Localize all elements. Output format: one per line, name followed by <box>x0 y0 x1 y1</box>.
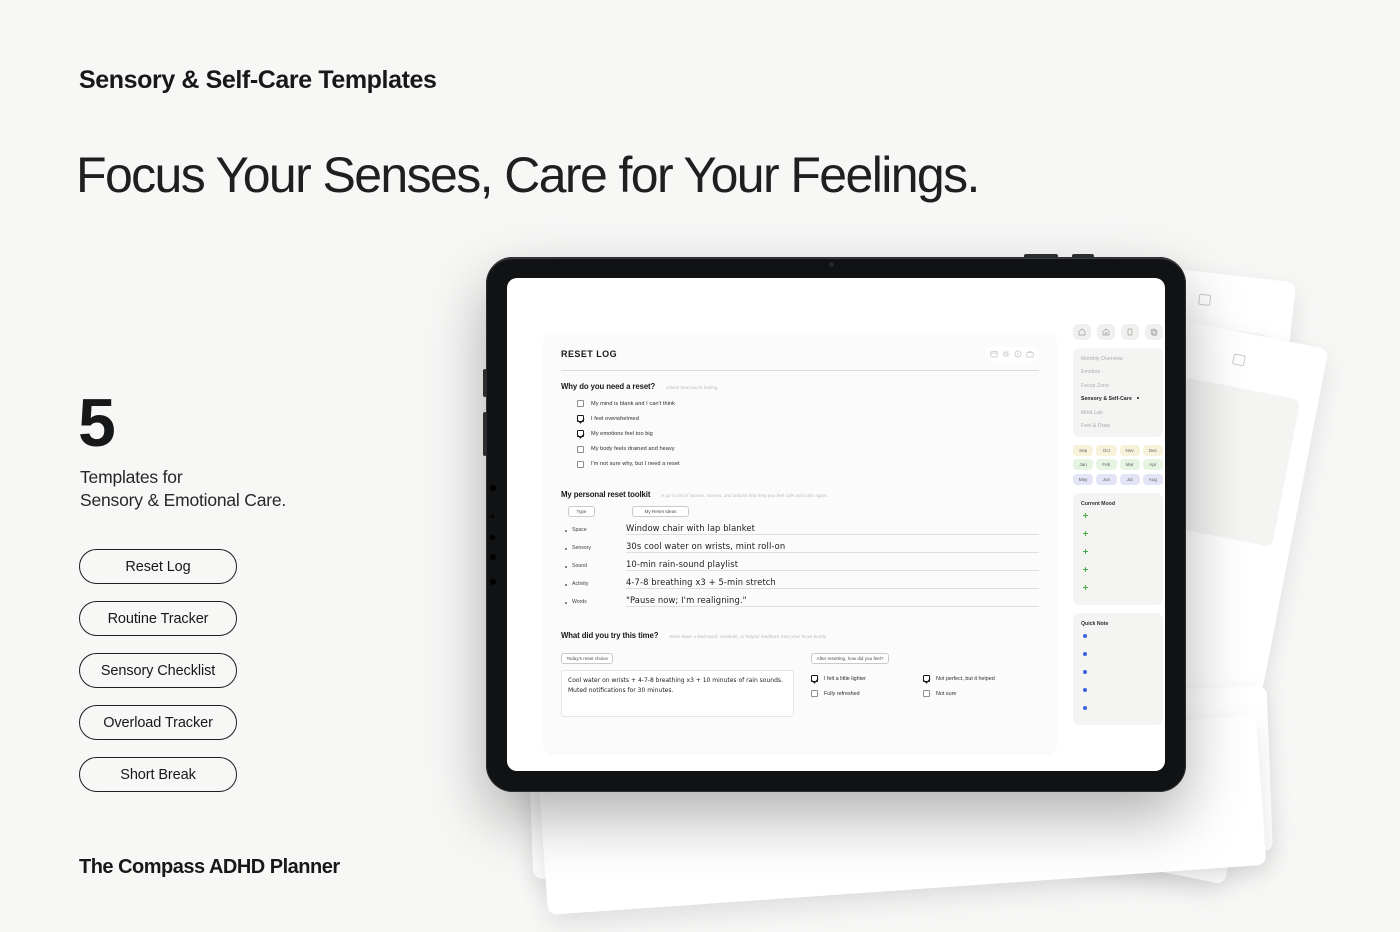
note-label: Today's reset choice <box>561 653 613 664</box>
section-toolkit-header: My personal reset toolkit A go-to list o… <box>561 490 1039 499</box>
toolkit-row: Words "Pause now; I'm realigning." <box>561 595 1039 608</box>
note-entry-row[interactable] <box>1081 651 1155 669</box>
pill-routine-tracker[interactable]: Routine Tracker <box>79 601 237 636</box>
page-icon[interactable] <box>1121 324 1139 340</box>
current-mood-card: Current Mood <box>1073 493 1163 605</box>
month-chip-feb[interactable]: Feb <box>1096 459 1116 470</box>
home-icon[interactable] <box>1073 324 1091 340</box>
volume-up-button[interactable] <box>483 369 487 397</box>
document-title: RESET LOG <box>561 349 617 359</box>
note-entry-row[interactable] <box>1081 669 1155 687</box>
reset-log-document: RESET LOG Why do you need a reset? Check… <box>545 334 1055 752</box>
month-chip-jul[interactable]: Jul <box>1120 474 1140 485</box>
gear-icon[interactable] <box>1002 350 1010 358</box>
toolkit-row: Sensory 30s cool water on wrists, mint r… <box>561 541 1039 554</box>
checkbox-checked[interactable] <box>923 675 930 682</box>
toolkit-value[interactable]: 30s cool water on wrists, mint roll-on <box>626 541 1039 554</box>
subcopy-line-1: Templates for <box>80 466 286 489</box>
section-reflect: What did you try this time? Write down a… <box>561 631 1039 717</box>
month-chip-nov[interactable]: Nov <box>1120 445 1140 456</box>
subcopy: Templates for Sensory & Emotional Care. <box>80 466 286 512</box>
checkbox[interactable] <box>577 446 584 453</box>
feel-option-label: Fully refreshed <box>824 691 860 697</box>
month-chip-sep[interactable]: Sep <box>1073 445 1093 456</box>
month-chip-jun[interactable]: Jun <box>1096 474 1116 485</box>
pill-sensory-checklist[interactable]: Sensory Checklist <box>79 653 237 688</box>
section-hint: A go-to list of spaces, senses, and acti… <box>661 493 828 498</box>
camera-icon <box>829 262 834 267</box>
edge-dot <box>490 579 496 585</box>
tablet-device: RESET LOG Why do you need a reset? Check… <box>486 257 1186 792</box>
section-hint: Write down a kind word, reminder, or hel… <box>669 634 827 639</box>
quick-note-card: Quick Note <box>1073 613 1163 725</box>
sidebar-nav-list: Monthly Overview Emotion Focus Zone Sens… <box>1073 348 1163 437</box>
house-icon[interactable] <box>1097 324 1115 340</box>
card-title: Quick Note <box>1081 621 1155 627</box>
toolkit-type: Sensory <box>561 545 626 553</box>
note-entry-row[interactable] <box>1081 633 1155 651</box>
page-title: Focus Your Senses, Care for Your Feeling… <box>76 146 979 204</box>
feel-label: After resetting, how did you feel? <box>811 653 889 664</box>
document-header: RESET LOG <box>561 347 1039 361</box>
copy-icon[interactable] <box>1145 324 1163 340</box>
toolkit-value[interactable]: 10-min rain-sound playlist <box>626 559 1039 572</box>
month-chip-may[interactable]: May <box>1073 474 1093 485</box>
checklist-label: I feel overwhelmed <box>591 416 639 422</box>
plus-icon[interactable] <box>1083 549 1088 554</box>
section-reflect-header: What did you try this time? Write down a… <box>561 631 1039 640</box>
mood-entry-row[interactable] <box>1081 549 1155 567</box>
sidebar-item-feel-draw[interactable]: Feel & Draw <box>1081 423 1155 429</box>
eyebrow-text: Sensory & Self-Care Templates <box>79 66 437 95</box>
mood-entry-row[interactable] <box>1081 585 1155 603</box>
tablet-screen: RESET LOG Why do you need a reset? Check… <box>507 278 1165 771</box>
sidebar-item-emotion[interactable]: Emotion <box>1081 369 1155 375</box>
sidebar-item-monthly-overview[interactable]: Monthly Overview <box>1081 356 1155 362</box>
page-icon <box>1198 294 1211 306</box>
briefcase-icon[interactable] <box>1026 350 1034 358</box>
column-header-type: Type <box>568 506 595 517</box>
column-header-ideas: My Reset Ideas <box>632 506 689 517</box>
pill-reset-log[interactable]: Reset Log <box>79 549 237 584</box>
bullet-icon <box>1083 688 1087 692</box>
plus-icon[interactable] <box>1083 513 1088 518</box>
toolkit-row: Activity 4-7-8 breathing x3 + 5-min stre… <box>561 577 1039 590</box>
sidebar-item-focus-zone[interactable]: Focus Zone <box>1081 383 1155 389</box>
toolkit-column-headers: Type My Reset Ideas <box>561 506 1039 517</box>
reflect-body: Today's reset choice Cool water on wrist… <box>561 647 1039 717</box>
toolkit-row: Space Window chair with lap blanket <box>561 523 1039 536</box>
month-chip-oct[interactable]: Oct <box>1096 445 1116 456</box>
checklist-item[interactable]: I'm not sure why, but I need a reset <box>577 461 1039 468</box>
checkbox[interactable] <box>811 690 818 697</box>
section-title: What did you try this time? <box>561 631 658 640</box>
page-icon <box>1232 353 1246 366</box>
month-chip-aug[interactable]: Aug <box>1143 474 1163 485</box>
checklist-item[interactable]: I feel overwhelmed <box>577 415 1039 422</box>
checkbox-checked[interactable] <box>811 675 818 682</box>
toolkit-type: Sound <box>561 563 626 571</box>
month-selector: Sep Oct Nov Dec Jan Feb Mar Apr May Jun … <box>1073 445 1163 485</box>
feel-option[interactable]: Not sure <box>923 690 1026 697</box>
checklist-label: I'm not sure why, but I need a reset <box>591 461 680 467</box>
document-toolbar <box>985 347 1039 361</box>
subcopy-line-2: Sensory & Emotional Care. <box>80 489 286 512</box>
edge-dot <box>491 515 494 518</box>
feel-option[interactable]: I felt a little lighter <box>811 675 914 682</box>
checklist-item[interactable]: My emotions feel too big <box>577 430 1039 437</box>
checklist-label: My body feels drained and heavy <box>591 446 675 452</box>
bullet-icon <box>1083 706 1087 710</box>
toolkit-row: Sound 10-min rain-sound playlist <box>561 559 1039 572</box>
checkbox[interactable] <box>923 690 930 697</box>
top-button[interactable] <box>1024 254 1058 258</box>
calendar-icon[interactable] <box>990 350 998 358</box>
plus-icon[interactable] <box>1083 531 1088 536</box>
checklist-label: My emotions feel too big <box>591 431 653 437</box>
toolkit-type: Words <box>561 599 626 607</box>
checkbox[interactable] <box>577 461 584 468</box>
plus-icon[interactable] <box>1083 585 1088 590</box>
right-sidebar: Monthly Overview Emotion Focus Zone Sens… <box>1073 324 1163 725</box>
section-title: My personal reset toolkit <box>561 490 650 499</box>
note-column: Today's reset choice Cool water on wrist… <box>561 647 794 717</box>
checkbox[interactable] <box>577 400 584 407</box>
checklist-item[interactable]: My body feels drained and heavy <box>577 446 1039 453</box>
month-chip-apr[interactable]: Apr <box>1143 459 1163 470</box>
mood-entry-row[interactable] <box>1081 531 1155 549</box>
volume-down-button[interactable] <box>483 412 487 456</box>
bullet-icon <box>1083 634 1087 638</box>
pill-short-break[interactable]: Short Break <box>79 757 237 792</box>
sidebar-item-sensory-self-care[interactable]: Sensory & Self-Care <box>1081 396 1155 402</box>
divider <box>561 370 1039 371</box>
section-hint: Check how you're feeling. <box>666 385 719 390</box>
top-button-secondary[interactable] <box>1072 254 1094 258</box>
template-count: 5 <box>78 392 114 454</box>
poster-canvas: Sensory & Self-Care Templates Focus Your… <box>0 0 1400 932</box>
feel-options: I felt a little lighter Not perfect, but… <box>811 675 1026 697</box>
info-icon[interactable] <box>1014 350 1022 358</box>
feel-option[interactable]: Fully refreshed <box>811 690 914 697</box>
checklist-item[interactable]: My mind is blank and I can't think <box>577 400 1039 407</box>
mood-entry-row[interactable] <box>1081 567 1155 585</box>
toolkit-type: Activity <box>561 581 626 589</box>
toolkit-value[interactable]: 4-7-8 breathing x3 + 5-min stretch <box>626 577 1039 590</box>
note-entry-row[interactable] <box>1081 687 1155 705</box>
brand-footer: The Compass ADHD Planner <box>79 856 340 879</box>
mood-entry-row[interactable] <box>1081 513 1155 531</box>
feel-option-label: Not perfect, but it helped <box>936 676 995 682</box>
edge-dot <box>490 485 496 491</box>
edge-dot <box>490 535 495 540</box>
sidebar-item-mind-lab[interactable]: Mind Lab <box>1081 410 1155 416</box>
month-chip-dec[interactable]: Dec <box>1143 445 1163 456</box>
section-toolkit: My personal reset toolkit A go-to list o… <box>561 490 1039 607</box>
section-title: Why do you need a reset? <box>561 382 655 391</box>
note-entry-row[interactable] <box>1081 705 1155 723</box>
feel-column: After resetting, how did you feel? I fel… <box>811 647 1026 717</box>
feel-option-label: I felt a little lighter <box>824 676 866 682</box>
checkbox-checked[interactable] <box>577 430 584 437</box>
bullet-icon <box>1083 670 1087 674</box>
note-textarea[interactable]: Cool water on wrists + 4-7-8 breathing x… <box>561 670 794 717</box>
checkbox-checked[interactable] <box>577 415 584 422</box>
plus-icon[interactable] <box>1083 567 1088 572</box>
toolkit-type: Space <box>561 527 626 535</box>
card-title: Current Mood <box>1081 501 1155 507</box>
toolkit-value[interactable]: "Pause now; I'm realigning." <box>626 595 1039 608</box>
checklist-label: My mind is blank and I can't think <box>591 401 675 407</box>
feel-option-label: Not sure <box>936 691 956 697</box>
template-pill-list: Reset Log Routine Tracker Sensory Checkl… <box>79 549 237 809</box>
sidebar-nav-icons <box>1073 324 1163 340</box>
edge-dot <box>490 554 496 560</box>
toolkit-value[interactable]: Window chair with lap blanket <box>626 523 1039 536</box>
pill-overload-tracker[interactable]: Overload Tracker <box>79 705 237 740</box>
month-chip-jan[interactable]: Jan <box>1073 459 1093 470</box>
month-chip-mar[interactable]: Mar <box>1120 459 1140 470</box>
section-reason-header: Why do you need a reset? Check how you'r… <box>561 382 1039 391</box>
feel-option[interactable]: Not perfect, but it helped <box>923 675 1026 682</box>
bullet-icon <box>1083 652 1087 656</box>
reason-checklist: My mind is blank and I can't think I fee… <box>561 400 1039 468</box>
